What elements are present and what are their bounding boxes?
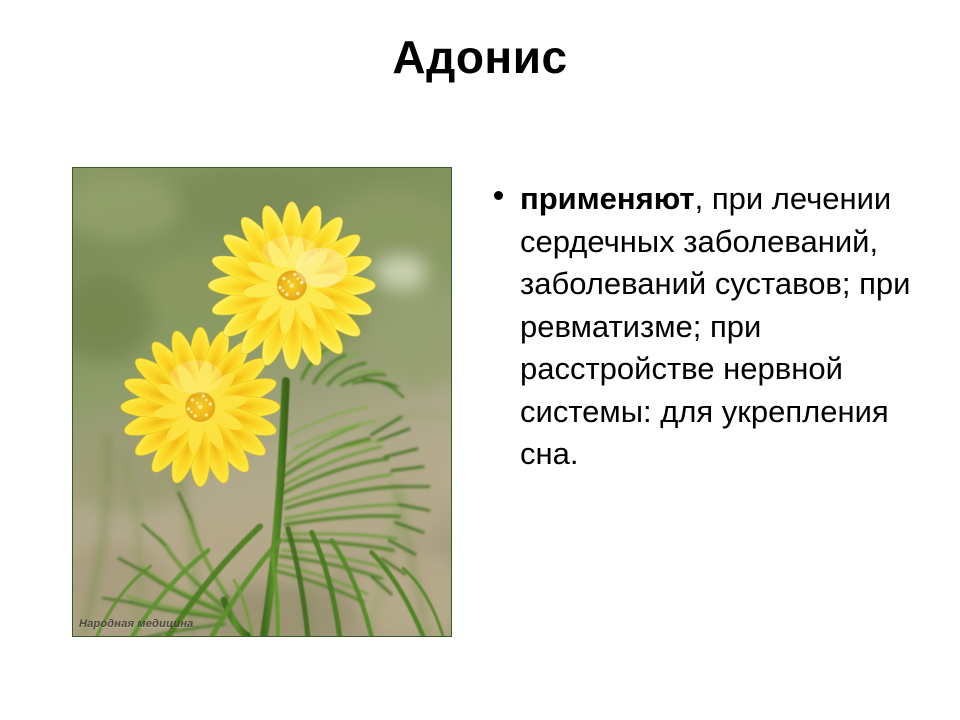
list-item: применяют, при лечении сердечных заболев…: [489, 178, 919, 476]
flower-photo-image: [73, 168, 451, 636]
bullet-icon: [494, 191, 503, 200]
page-title: Адонис: [0, 32, 960, 83]
bullet-rest-text: , при лечении сердечных заболеваний, заб…: [520, 181, 910, 471]
bullet-lead-word: применяют: [520, 181, 695, 216]
flower-photo: Народная медицина: [72, 167, 452, 637]
bullet-paragraph: применяют, при лечении сердечных заболев…: [520, 178, 919, 476]
content-body: применяют, при лечении сердечных заболев…: [489, 178, 919, 476]
presentation-slide: Адонис: [0, 0, 960, 720]
